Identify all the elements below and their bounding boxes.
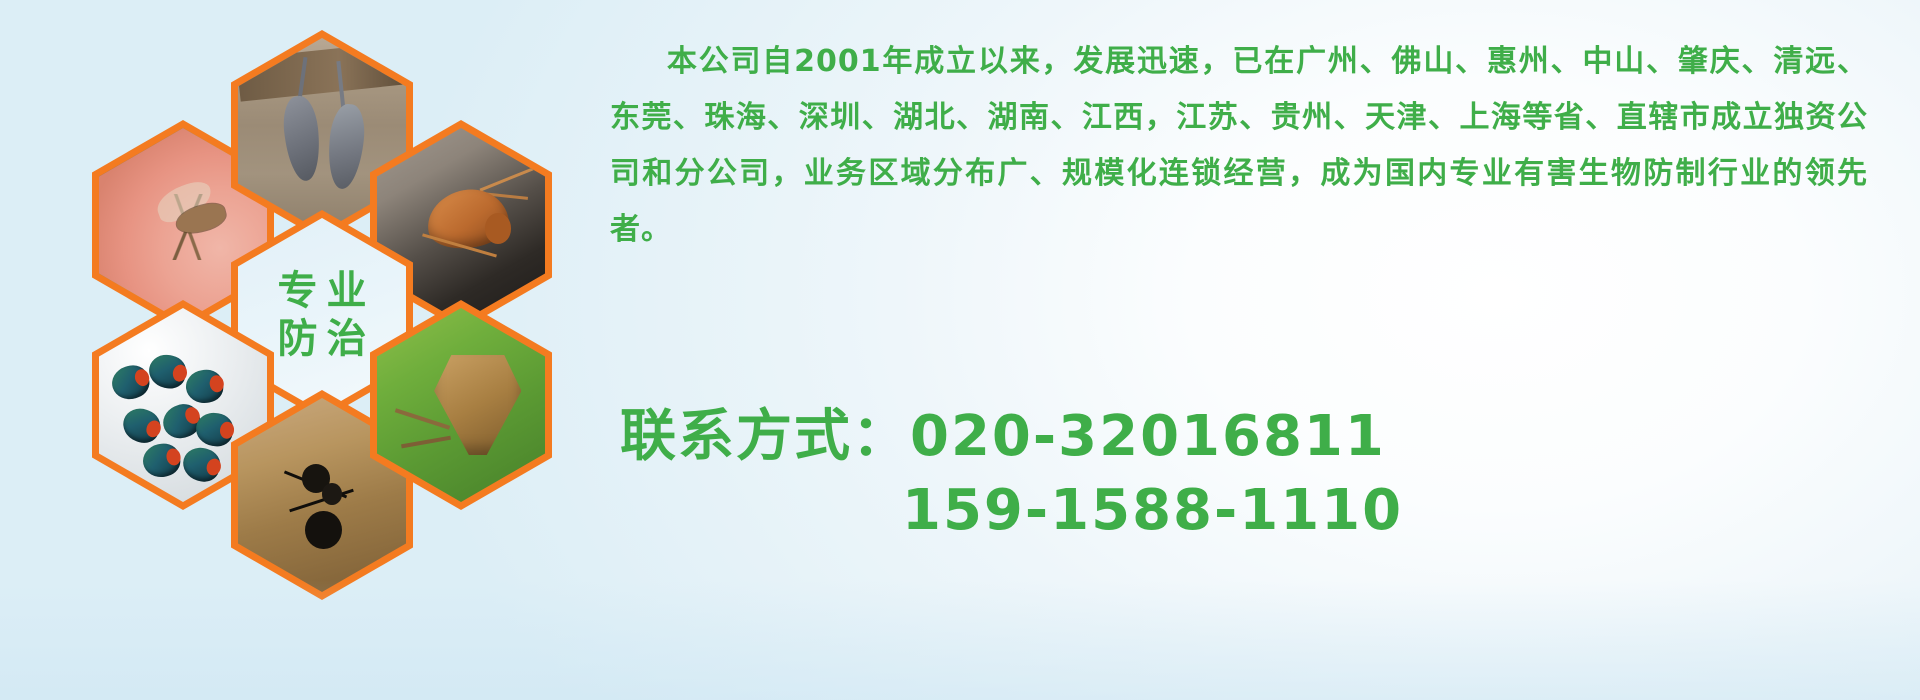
stink-bug-photo xyxy=(377,308,545,502)
contact-block: 联系方式：020-32016811 159-1588-1110 xyxy=(620,400,1880,548)
slogan-line-2: 防治 xyxy=(269,319,376,359)
company-description: 本公司自2001年成立以来，发展迅速，已在广州、佛山、惠州、中山、肇庆、清远、东… xyxy=(610,34,1868,258)
slogan-line-1: 专业 xyxy=(269,271,376,311)
honeycomb-collage: 专业 防治 xyxy=(92,8,592,558)
contact-line-primary[interactable]: 联系方式：020-32016811 xyxy=(620,400,1880,474)
promo-banner: 专业 防治 xyxy=(0,0,1920,700)
hex-inner xyxy=(377,308,545,502)
description-text: 本公司自2001年成立以来，发展迅速，已在广州、佛山、惠州、中山、肇庆、清远、东… xyxy=(610,44,1868,247)
description-paragraph: 本公司自2001年成立以来，发展迅速，已在广州、佛山、惠州、中山、肇庆、清远、东… xyxy=(610,34,1868,258)
contact-line-secondary[interactable]: 159-1588-1110 xyxy=(620,474,1880,548)
